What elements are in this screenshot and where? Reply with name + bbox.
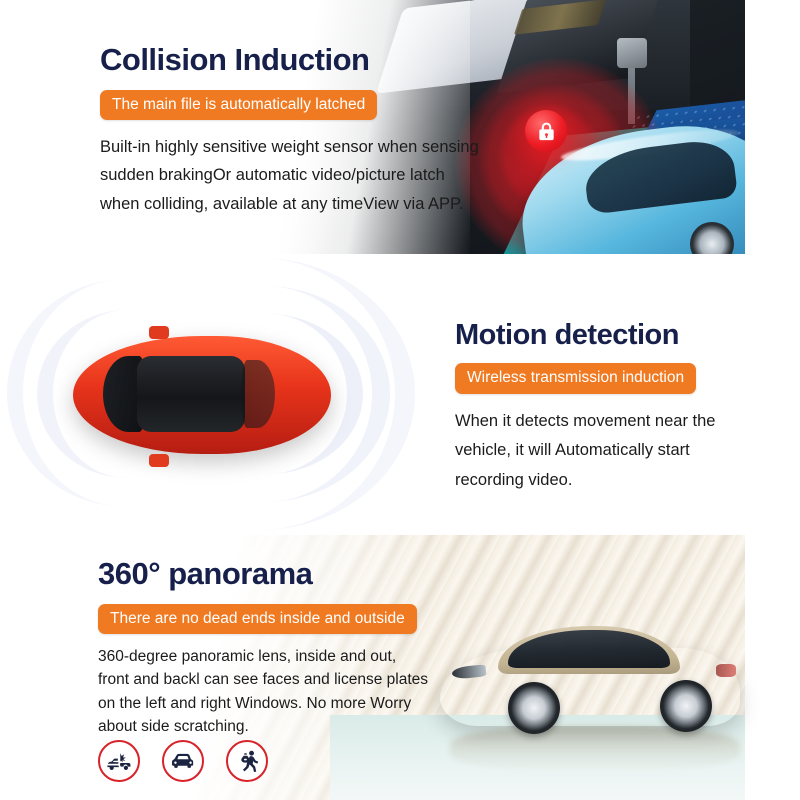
motion-heading: Motion detection <box>455 320 755 350</box>
collision-heading: Collision Induction <box>100 44 480 77</box>
red-car-mirror-left <box>149 326 169 339</box>
panorama-body-text: 360-degree panoramic lens, inside and ou… <box>98 645 428 738</box>
motion-body-text: When it detects movement near the vehicl… <box>455 407 755 495</box>
collision-badge: The main file is automatically latched <box>100 90 377 121</box>
motion-copy-block: Motion detection Wireless transmission i… <box>455 320 755 495</box>
feature-icon-row <box>98 740 268 782</box>
gold-sedan-front-wheel <box>508 682 560 734</box>
motion-badge: Wireless transmission induction <box>455 363 696 394</box>
motion-detection-image <box>45 264 435 522</box>
panorama-copy-block: 360° panorama There are no dead ends ins… <box>98 558 428 738</box>
red-car-rear-window <box>241 360 275 428</box>
gold-sedan-taillight <box>716 664 736 677</box>
section-360-panorama: 360° panorama There are no dead ends ins… <box>0 530 800 800</box>
panorama-heading: 360° panorama <box>98 558 428 591</box>
red-car-sunroof <box>137 356 245 432</box>
collision-copy-block: Collision Induction The main file is aut… <box>100 44 480 218</box>
section-collision-induction: Collision Induction The main file is aut… <box>0 0 800 256</box>
red-car-mirror-right <box>149 454 169 467</box>
product-feature-page: Collision Induction The main file is aut… <box>0 0 800 800</box>
panorama-badge: There are no dead ends inside and outsid… <box>98 604 417 635</box>
car-front-icon <box>162 740 204 782</box>
car-reflection <box>450 726 740 772</box>
camera-head <box>617 38 647 68</box>
collision-body-text: Built-in highly sensitive weight sensor … <box>100 133 480 218</box>
theft-burglar-icon <box>226 740 268 782</box>
lock-icon <box>525 110 567 152</box>
section-motion-detection: Motion detection Wireless transmission i… <box>0 256 800 530</box>
collision-crash-icon <box>98 740 140 782</box>
gold-sedan-rear-wheel <box>660 680 712 732</box>
blue-car-taillight <box>744 170 772 187</box>
